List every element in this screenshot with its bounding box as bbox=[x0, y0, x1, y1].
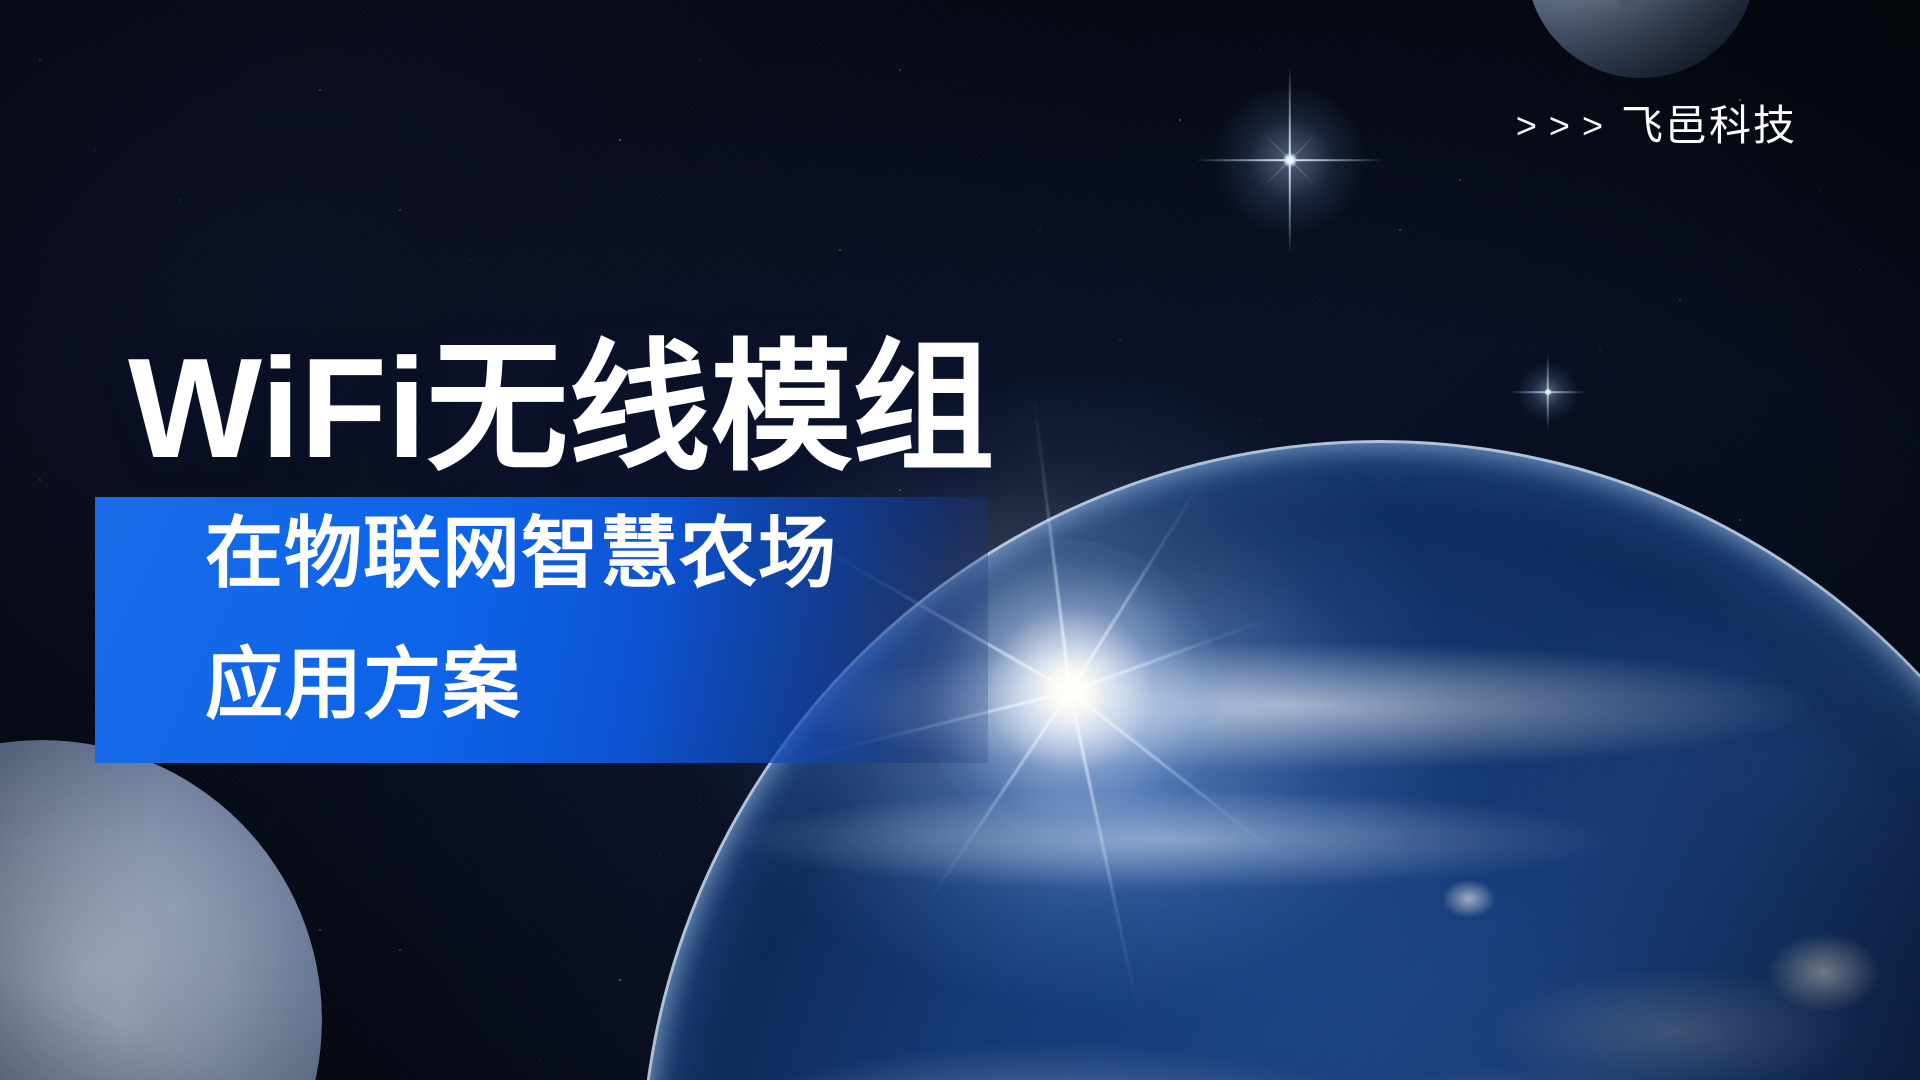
brand-name: 飞邑科技 bbox=[1621, 105, 1797, 147]
promo-banner-stage: > > > 飞邑科技 WiFi无线模组 在物联网智慧农场 应用方案 bbox=[0, 0, 1920, 1080]
chevron-right-icons: > > > bbox=[1516, 108, 1604, 144]
page-title: WiFi无线模组 bbox=[128, 338, 994, 480]
subtitle-banner: 在物联网智慧农场 应用方案 bbox=[95, 497, 988, 763]
subtitle-line-1: 在物联网智慧农场 bbox=[205, 514, 837, 592]
brand-lockup[interactable]: > > > 飞邑科技 bbox=[1516, 105, 1797, 147]
subtitle-line-2: 应用方案 bbox=[205, 645, 521, 723]
